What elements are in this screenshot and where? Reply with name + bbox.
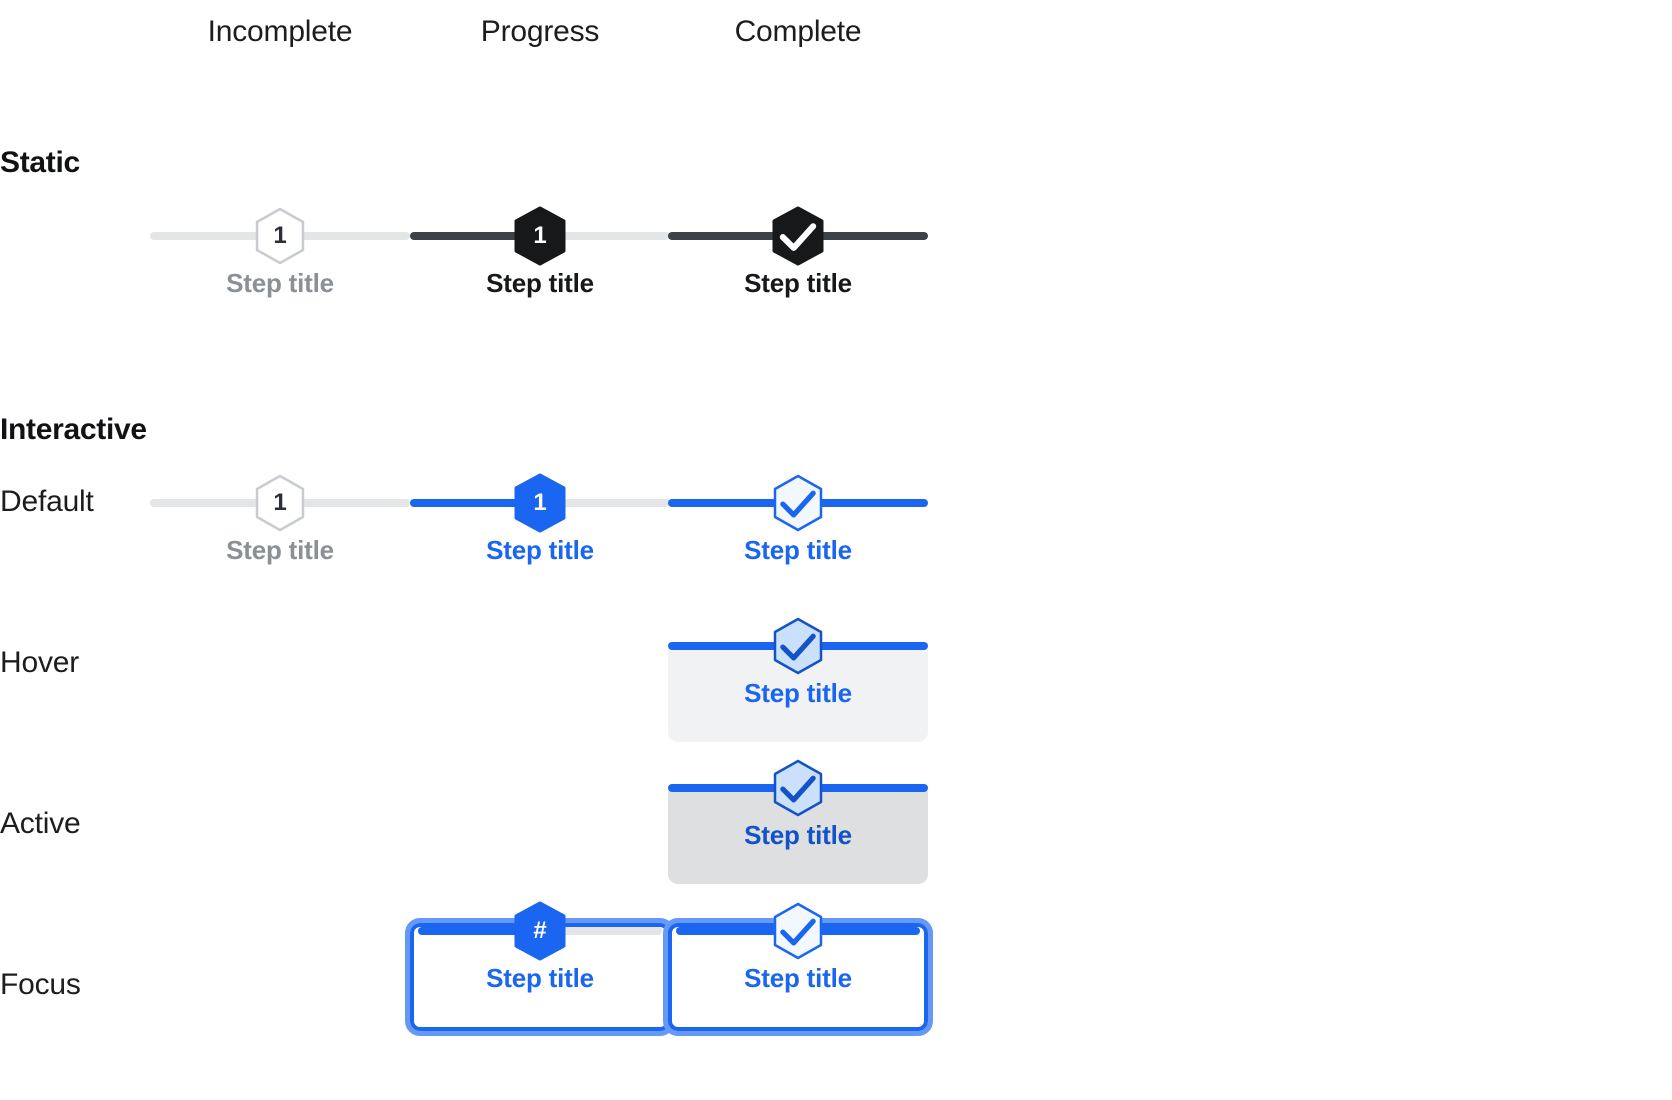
check-icon (772, 207, 824, 265)
step-badge-hexagon (772, 759, 824, 817)
step-indicator-states-matrix: Incomplete Progress Complete Static Inte… (0, 0, 1672, 1100)
step-title: Step title (410, 535, 670, 566)
row-label-default: Default (0, 485, 94, 519)
step-title: Step title (668, 535, 928, 566)
step-badge-hexagon: 1 (254, 474, 306, 532)
step-title: Step title (668, 678, 928, 709)
column-header-incomplete: Incomplete (150, 15, 410, 49)
step-badge-hexagon (772, 902, 824, 960)
column-header-complete: Complete (668, 15, 928, 49)
step-badge-hexagon (772, 617, 824, 675)
check-icon (772, 759, 824, 817)
step-number-label: 1 (273, 224, 286, 248)
check-icon (772, 902, 824, 960)
check-icon (772, 474, 824, 532)
step-title: Step title (410, 963, 670, 994)
step-title: Step title (410, 268, 670, 299)
row-label-active: Active (0, 807, 81, 841)
step-title: Step title (150, 268, 410, 299)
section-label-static: Static (0, 146, 80, 180)
step-number-label: 1 (533, 224, 546, 248)
step-title: Step title (668, 268, 928, 299)
step-badge-hexagon: # (514, 902, 566, 960)
step-badge-hexagon: 1 (254, 207, 306, 265)
step-hash-label: # (533, 919, 546, 943)
step-badge-hexagon: 1 (514, 207, 566, 265)
row-label-focus: Focus (0, 968, 81, 1002)
step-badge-hexagon: 1 (514, 474, 566, 532)
column-header-progress: Progress (410, 15, 670, 49)
row-label-hover: Hover (0, 646, 79, 680)
step-title: Step title (668, 820, 928, 851)
step-badge-hexagon (772, 207, 824, 265)
check-icon (772, 617, 824, 675)
section-label-interactive: Interactive (0, 413, 147, 447)
step-title: Step title (150, 535, 410, 566)
step-number-label: 1 (533, 491, 546, 515)
step-badge-hexagon (772, 474, 824, 532)
step-number-label: 1 (273, 491, 286, 515)
step-title: Step title (668, 963, 928, 994)
